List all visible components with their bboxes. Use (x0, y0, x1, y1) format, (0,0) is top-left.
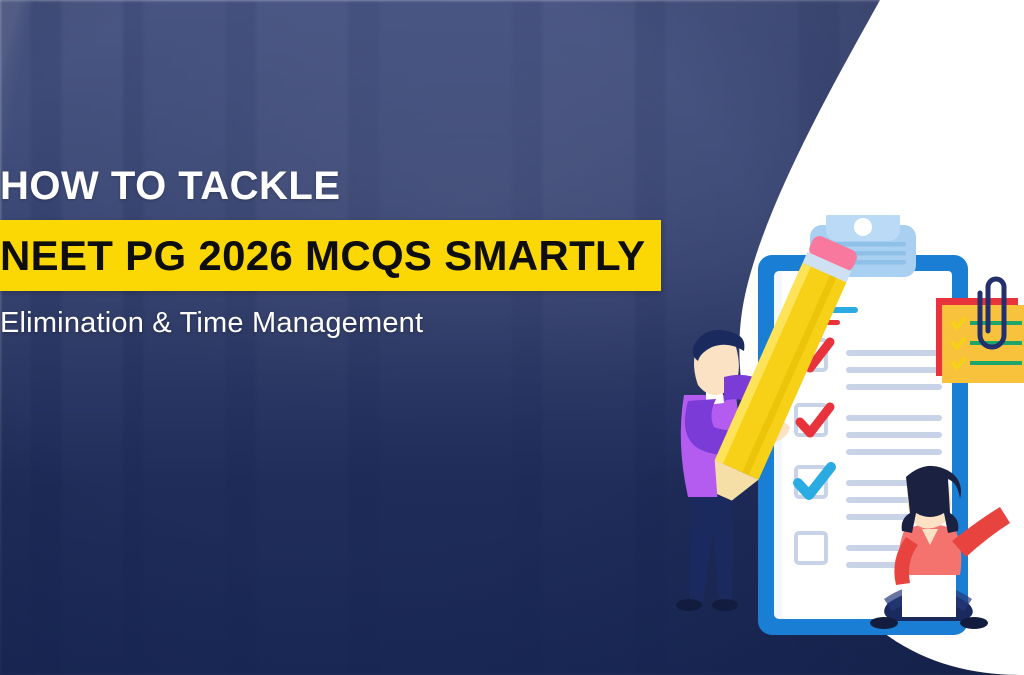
man-legs (689, 497, 734, 602)
man-shoe-left (676, 599, 702, 611)
man-shoe-right (712, 599, 738, 611)
woman-foot-right (960, 617, 988, 629)
woman-book (902, 569, 956, 617)
headline-highlight-band: NEET PG 2026 MCQS SMARTLY (0, 220, 661, 291)
headline-subline: Elimination & Time Management (0, 309, 740, 338)
woman-foot-left (870, 617, 898, 629)
checklist-illustration (650, 215, 1024, 675)
headline-block: HOW TO TACKLE NEET PG 2026 MCQS SMARTLY … (0, 166, 740, 338)
headline-line-1: HOW TO TACKLE (0, 166, 740, 206)
promo-banner: HOW TO TACKLE NEET PG 2026 MCQS SMARTLY … (0, 0, 1024, 675)
